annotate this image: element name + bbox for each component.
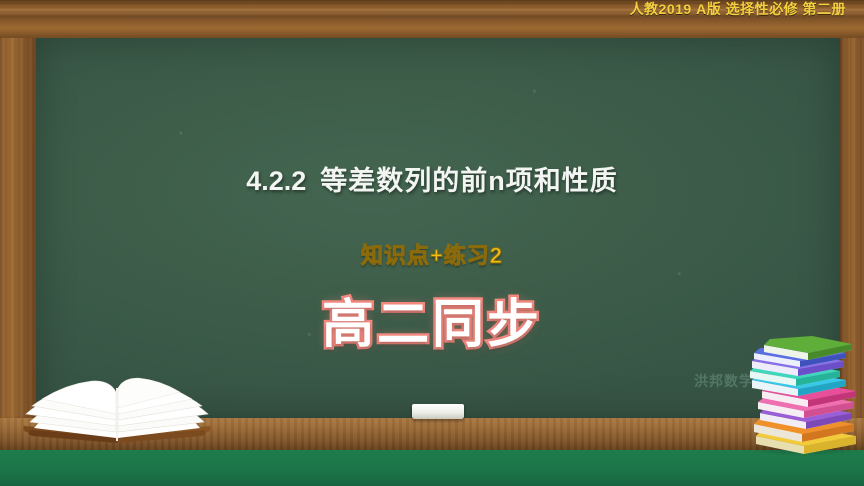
slide-canvas: 人教2019 A版 选择性必修 第二册 4.2.2等差数列的前n项和性质 知识点…	[0, 0, 864, 486]
page-subtitle: 知识点+练习2	[0, 238, 864, 270]
banner-edition-label: 人教2019 A版 选择性必修 第二册	[630, 0, 846, 19]
floor-band	[0, 450, 864, 486]
page-title-text: 等差数列的前n项和性质	[320, 166, 618, 196]
page-title: 4.2.2等差数列的前n项和性质	[0, 159, 864, 198]
top-banner-bar: 人教2019 A版 选择性必修 第二册	[0, 0, 864, 18]
stacked-books-icon	[744, 332, 864, 460]
chalkboard-eraser-icon	[412, 404, 464, 419]
frame-top-rail	[0, 18, 864, 38]
open-book-icon	[12, 344, 222, 454]
page-title-number: 4.2.2	[246, 166, 306, 196]
